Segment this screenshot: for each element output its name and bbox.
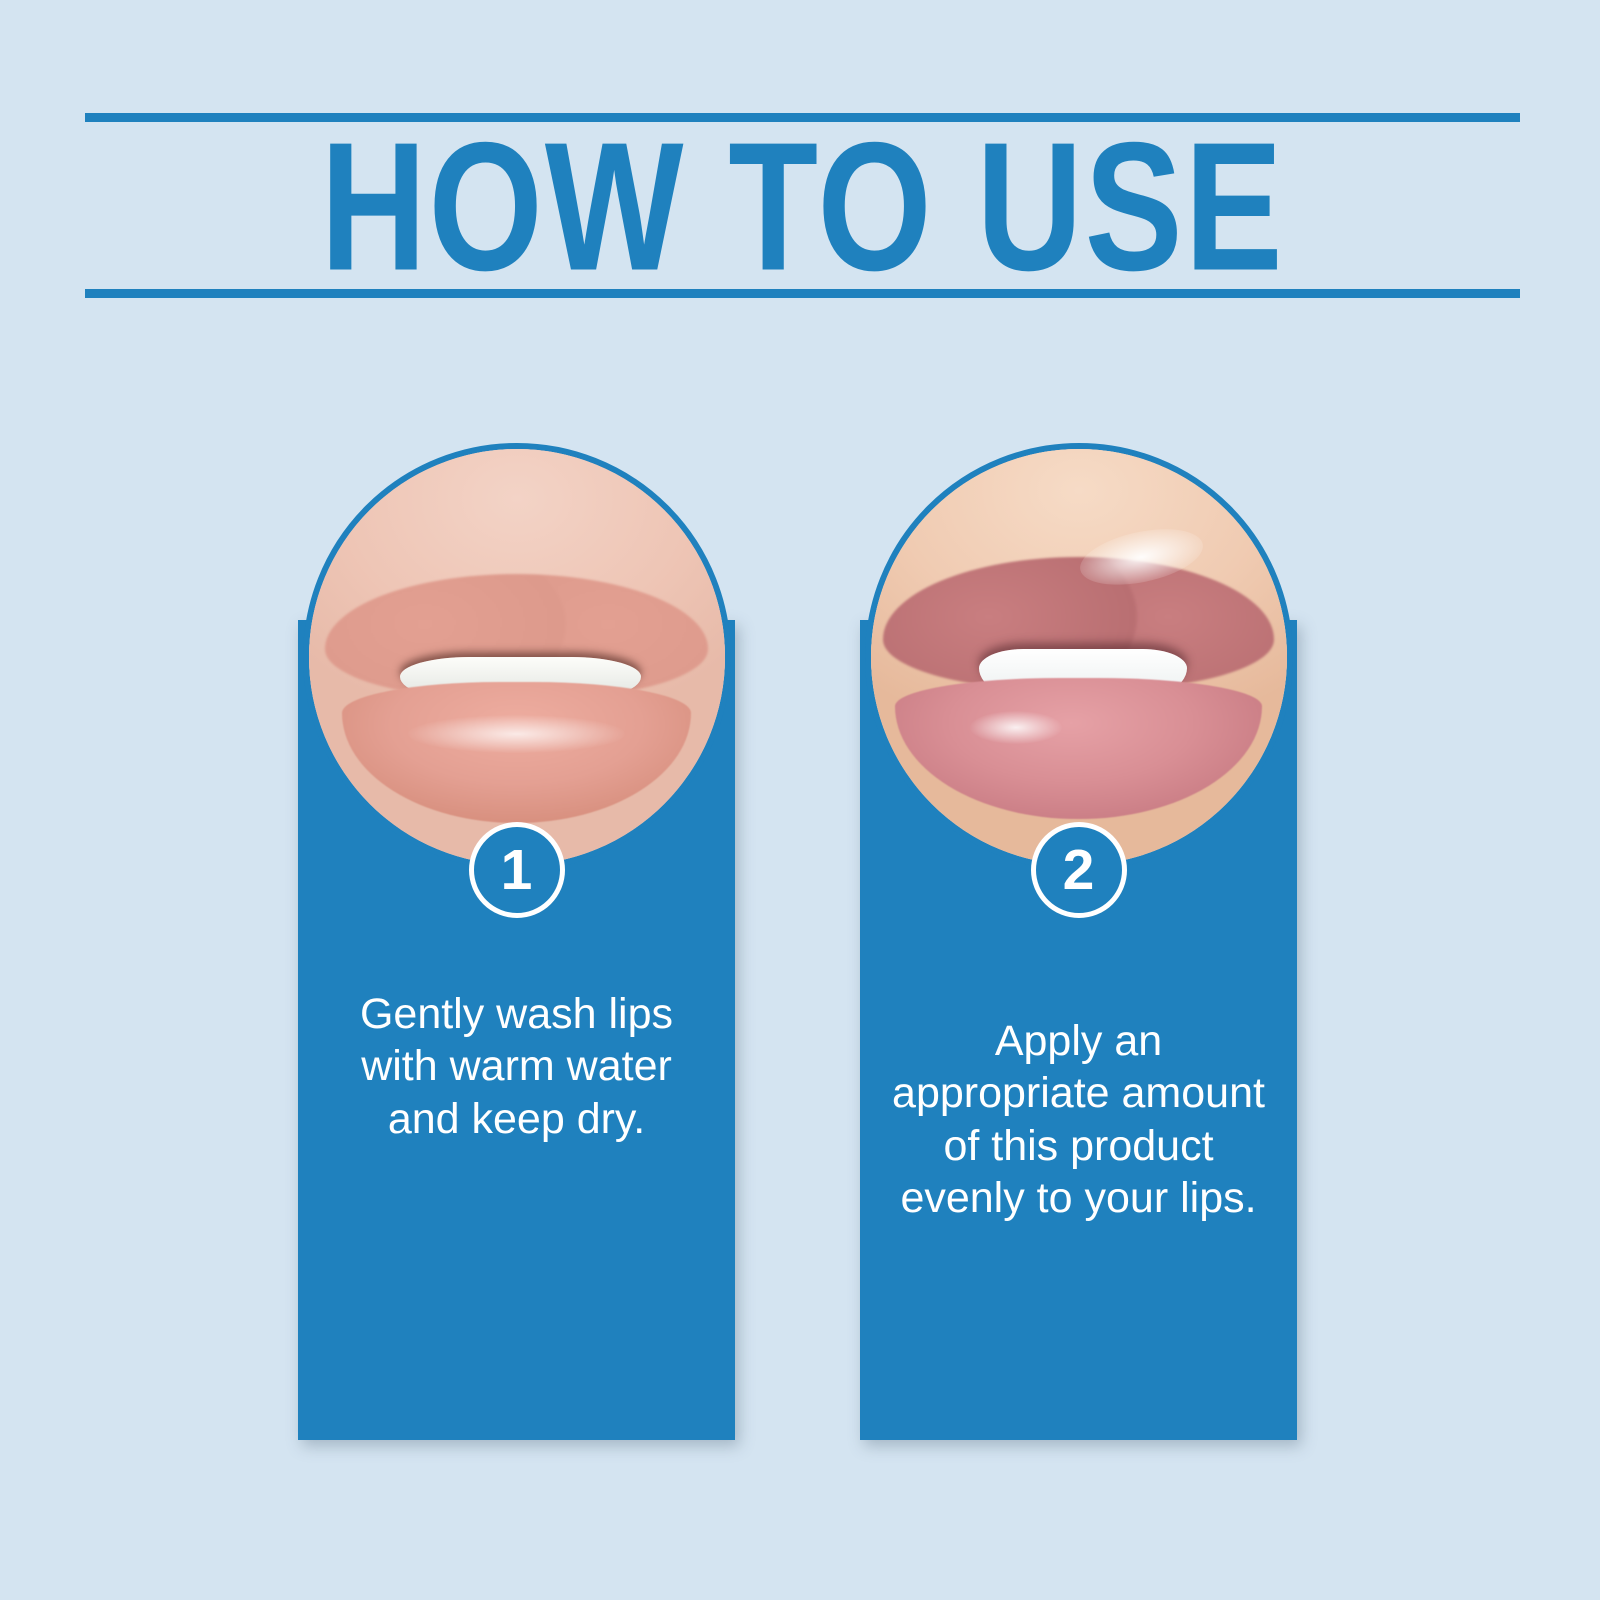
step-number-badge-1: 1 (469, 822, 565, 918)
step-caption-1: Gently wash lips with warm water and kee… (308, 988, 725, 1145)
step-card-1: 1 Gently wash lips with warm water and k… (298, 620, 735, 1440)
steps-container: 1 Gently wash lips with warm water and k… (0, 0, 1600, 1600)
lower-lip-shape (895, 678, 1261, 819)
step-card-2: 2 Apply an appropriate amount of this pr… (860, 620, 1297, 1440)
glossy-lips-photo (871, 449, 1287, 865)
step-number-badge-2: 2 (1031, 822, 1127, 918)
step-caption-2: Apply an appropriate amount of this prod… (870, 1015, 1287, 1225)
matte-lips-photo (309, 449, 725, 865)
lip-highlight-shape (408, 715, 624, 752)
step-2-photo (865, 443, 1293, 871)
lower-lip-shape (342, 682, 691, 823)
step-1-photo (303, 443, 731, 871)
